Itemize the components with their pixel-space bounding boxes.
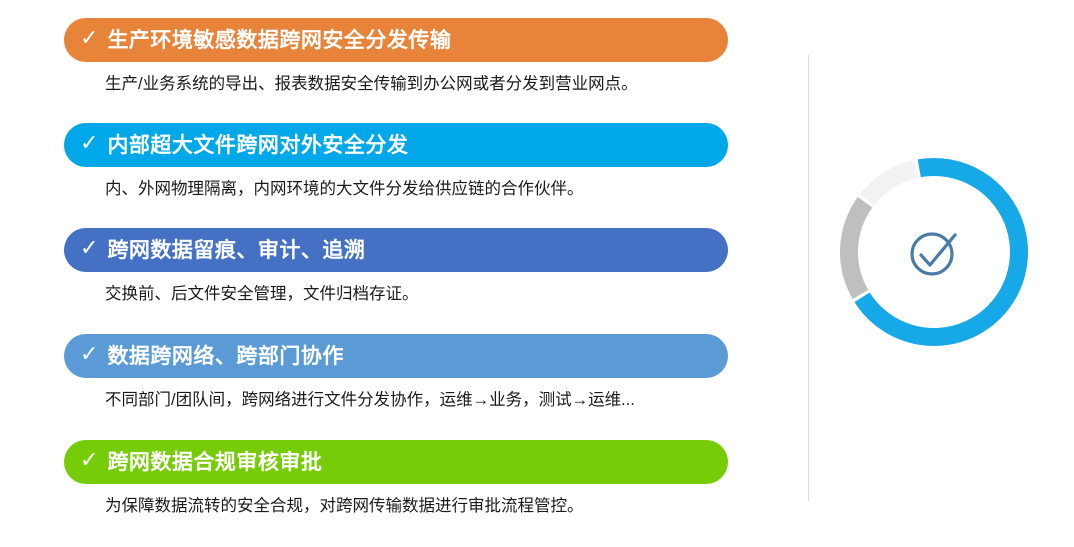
feature-description: 内、外网物理隔离，内网环境的大文件分发给供应链的合作伙伴。 [105, 178, 728, 200]
donut-svg [824, 142, 1044, 362]
feature-pill-4[interactable]: ✓ 数据跨网络、跨部门协作 [64, 334, 728, 378]
feature-pill-5[interactable]: ✓ 跨网数据合规审核审批 [64, 440, 728, 484]
feature-pill-2[interactable]: ✓ 内部超大文件跨网对外安全分发 [64, 123, 728, 167]
feature-row: ✓ 生产环境敏感数据跨网安全分发传输 生产/业务系统的导出、报表数据安全传输到办… [64, 18, 728, 95]
feature-pill-1[interactable]: ✓ 生产环境敏感数据跨网安全分发传输 [64, 18, 728, 62]
light-gray-segment [867, 169, 916, 200]
check-icon: ✓ [80, 450, 98, 472]
check-icon: ✓ [80, 238, 98, 260]
check-circle-icon [912, 234, 955, 274]
check-icon: ✓ [80, 344, 98, 366]
check-icon: ✓ [80, 133, 98, 155]
vertical-divider [808, 55, 809, 501]
feature-title: 内部超大文件跨网对外安全分发 [107, 135, 408, 156]
medium-gray-segment [849, 202, 865, 294]
feature-description: 为保障数据流转的安全合规，对跨网传输数据进行审批流程管控。 [105, 495, 728, 517]
feature-row: ✓ 跨网数据留痕、审计、追溯 交换前、后文件安全管理，文件归档存证。 [64, 228, 728, 305]
feature-title: 数据跨网络、跨部门协作 [107, 346, 344, 367]
donut-arc-group [849, 167, 1019, 337]
feature-description: 不同部门/团队间，跨网络进行文件分发协作，运维→业务，测试→运维... [105, 389, 728, 411]
feature-description: 生产/业务系统的导出、报表数据安全传输到办公网或者分发到营业网点。 [105, 73, 728, 95]
feature-row: ✓ 数据跨网络、跨部门协作 不同部门/团队间，跨网络进行文件分发协作，运维→业务… [64, 334, 728, 411]
check-icon: ✓ [80, 28, 98, 50]
feature-row: ✓ 跨网数据合规审核审批 为保障数据流转的安全合规，对跨网传输数据进行审批流程管… [64, 440, 728, 517]
donut-chart [824, 142, 1044, 362]
check-circle-ring [912, 234, 952, 274]
feature-list: ✓ 生产环境敏感数据跨网安全分发传输 生产/业务系统的导出、报表数据安全传输到办… [0, 0, 790, 547]
feature-row: ✓ 内部超大文件跨网对外安全分发 内、外网物理隔离，内网环境的大文件分发给供应链… [64, 123, 728, 200]
feature-pill-3[interactable]: ✓ 跨网数据留痕、审计、追溯 [64, 228, 728, 272]
feature-title: 生产环境敏感数据跨网安全分发传输 [107, 30, 451, 51]
feature-title: 跨网数据留痕、审计、追溯 [107, 240, 365, 261]
feature-title: 跨网数据合规审核审批 [107, 452, 322, 473]
feature-description: 交换前、后文件安全管理，文件归档存证。 [105, 283, 728, 305]
